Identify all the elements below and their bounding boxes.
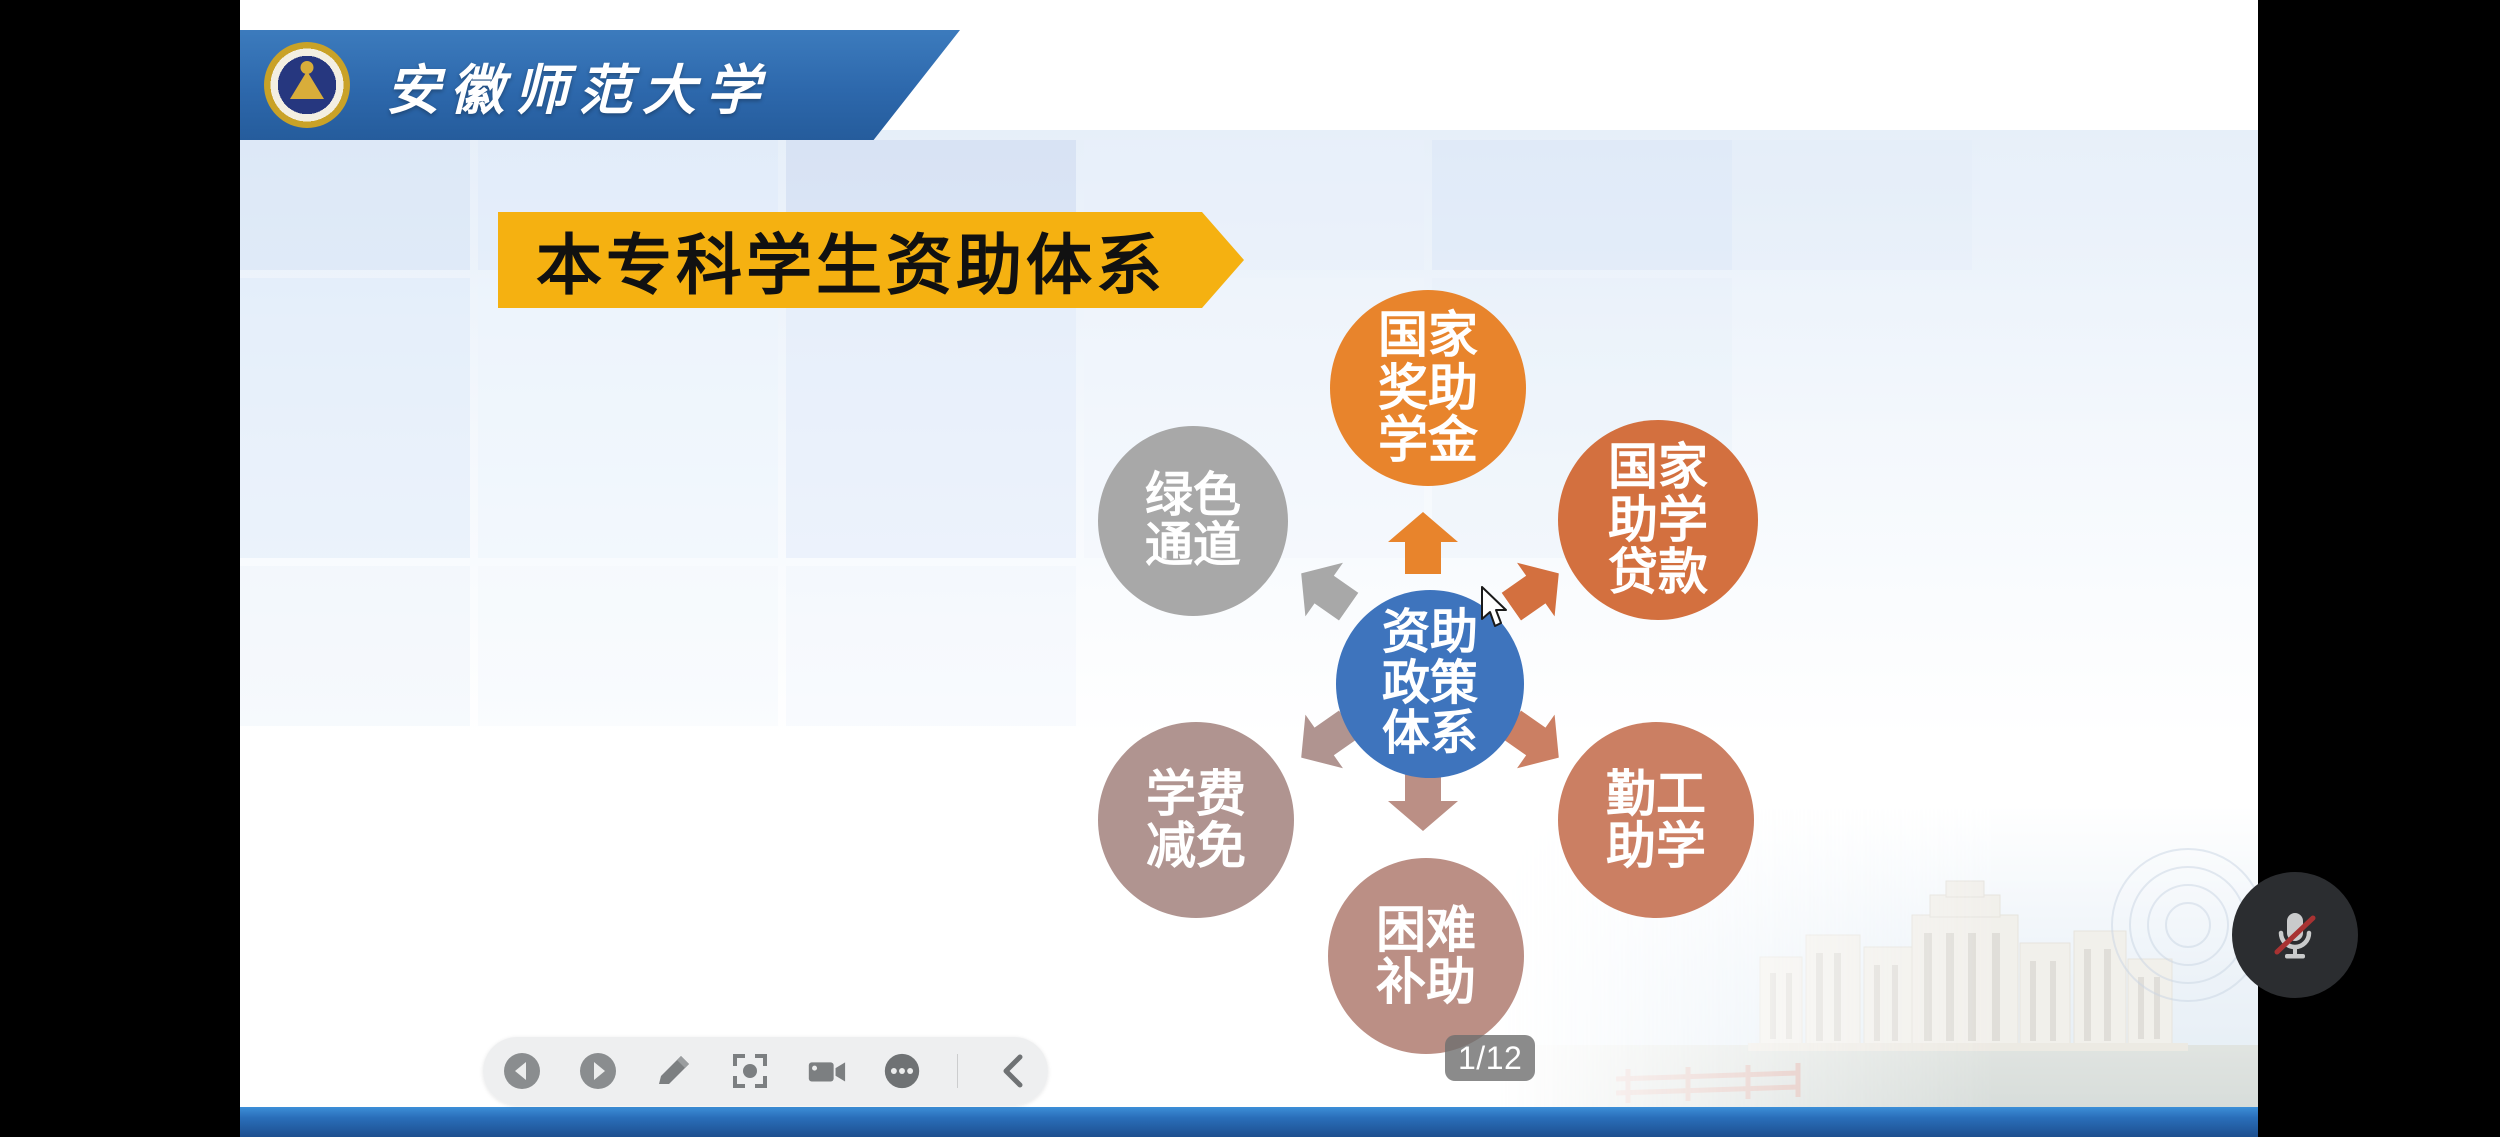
node-label-line: 资助	[1382, 608, 1478, 658]
more-icon[interactable]	[881, 1050, 923, 1092]
play-icon[interactable]	[577, 1050, 619, 1092]
node-label-line: 体系	[1382, 709, 1478, 759]
pencil-icon[interactable]	[653, 1050, 695, 1092]
university-header-banner: 安徽师范大学	[240, 30, 960, 140]
focus-icon[interactable]	[729, 1050, 771, 1092]
node-tuition-reduction[interactable]: 学费 减免	[1098, 722, 1294, 918]
university-logo-icon	[264, 42, 350, 128]
presentation-toolbar[interactable]	[483, 1037, 1048, 1105]
previous-icon[interactable]	[501, 1050, 543, 1092]
node-green-channel[interactable]: 绿色 通道	[1098, 426, 1288, 616]
node-label-line: 绿色	[1145, 471, 1241, 521]
page-indicator-badge: 1/12	[1445, 1035, 1535, 1081]
node-label-line: 国家	[1608, 441, 1708, 494]
arrow-to-national-scholarship	[1388, 512, 1458, 579]
node-label-line: 减免	[1146, 820, 1246, 873]
node-label-line: 困难	[1376, 904, 1476, 957]
node-label-line: 政策	[1382, 659, 1478, 709]
node-funding-policy-system-center[interactable]: 资助 政策 体系	[1336, 590, 1524, 778]
video-icon[interactable]	[805, 1050, 847, 1092]
node-label-line: 助学	[1608, 494, 1708, 547]
microphone-mute-button[interactable]	[2232, 872, 2358, 998]
node-label-line: 学费	[1146, 768, 1246, 821]
funding-policy-diagram: 国家 奖助 学金 国家 助学 贷款 勤工 助学 困难 补助 学费 减免	[1080, 290, 1880, 1090]
node-label-line: 通道	[1145, 521, 1241, 571]
node-hardship-subsidy[interactable]: 困难 补助	[1328, 858, 1524, 1054]
node-label-line: 助学	[1606, 820, 1706, 873]
chevron-left-icon[interactable]	[992, 1050, 1034, 1092]
node-label-line: 国家	[1378, 309, 1478, 362]
slide-stage[interactable]: 安徽师范大学 本专科学生资助体系	[240, 0, 2258, 1137]
node-label-line: 贷款	[1608, 546, 1708, 599]
node-label-line: 学金	[1378, 414, 1478, 467]
university-name: 安徽师范大学	[386, 46, 770, 125]
slide-footer-bar	[240, 1107, 2258, 1137]
microphone-muted-icon	[2264, 904, 2326, 966]
node-national-scholarship[interactable]: 国家 奖助 学金	[1330, 290, 1526, 486]
node-national-student-loan[interactable]: 国家 助学 贷款	[1558, 420, 1758, 620]
page-title: 本专科学生资助体系	[536, 212, 1166, 308]
node-label-line: 勤工	[1606, 768, 1706, 821]
node-label-line: 补助	[1376, 956, 1476, 1009]
toolbar-divider	[957, 1054, 958, 1088]
node-label-line: 奖助	[1378, 362, 1478, 415]
node-work-study[interactable]: 勤工 助学	[1558, 722, 1754, 918]
app-root: 安徽师范大学 本专科学生资助体系	[0, 0, 2500, 1137]
